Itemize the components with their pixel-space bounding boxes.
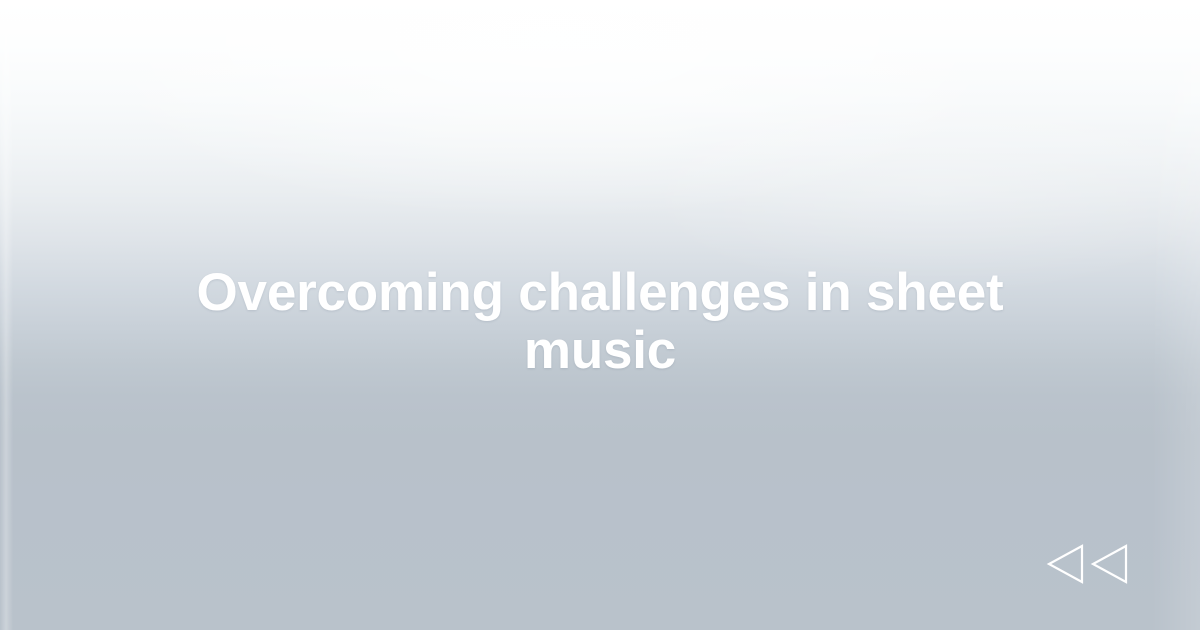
social-share-card: Overcoming challenges in sheet music (0, 0, 1200, 630)
triangle-left-icon (1090, 544, 1128, 584)
card-content: Overcoming challenges in sheet music (0, 0, 1200, 630)
rewind-button[interactable] (1046, 541, 1138, 587)
triangle-left-icon (1046, 544, 1084, 584)
page-title: Overcoming challenges in sheet music (0, 264, 1200, 380)
